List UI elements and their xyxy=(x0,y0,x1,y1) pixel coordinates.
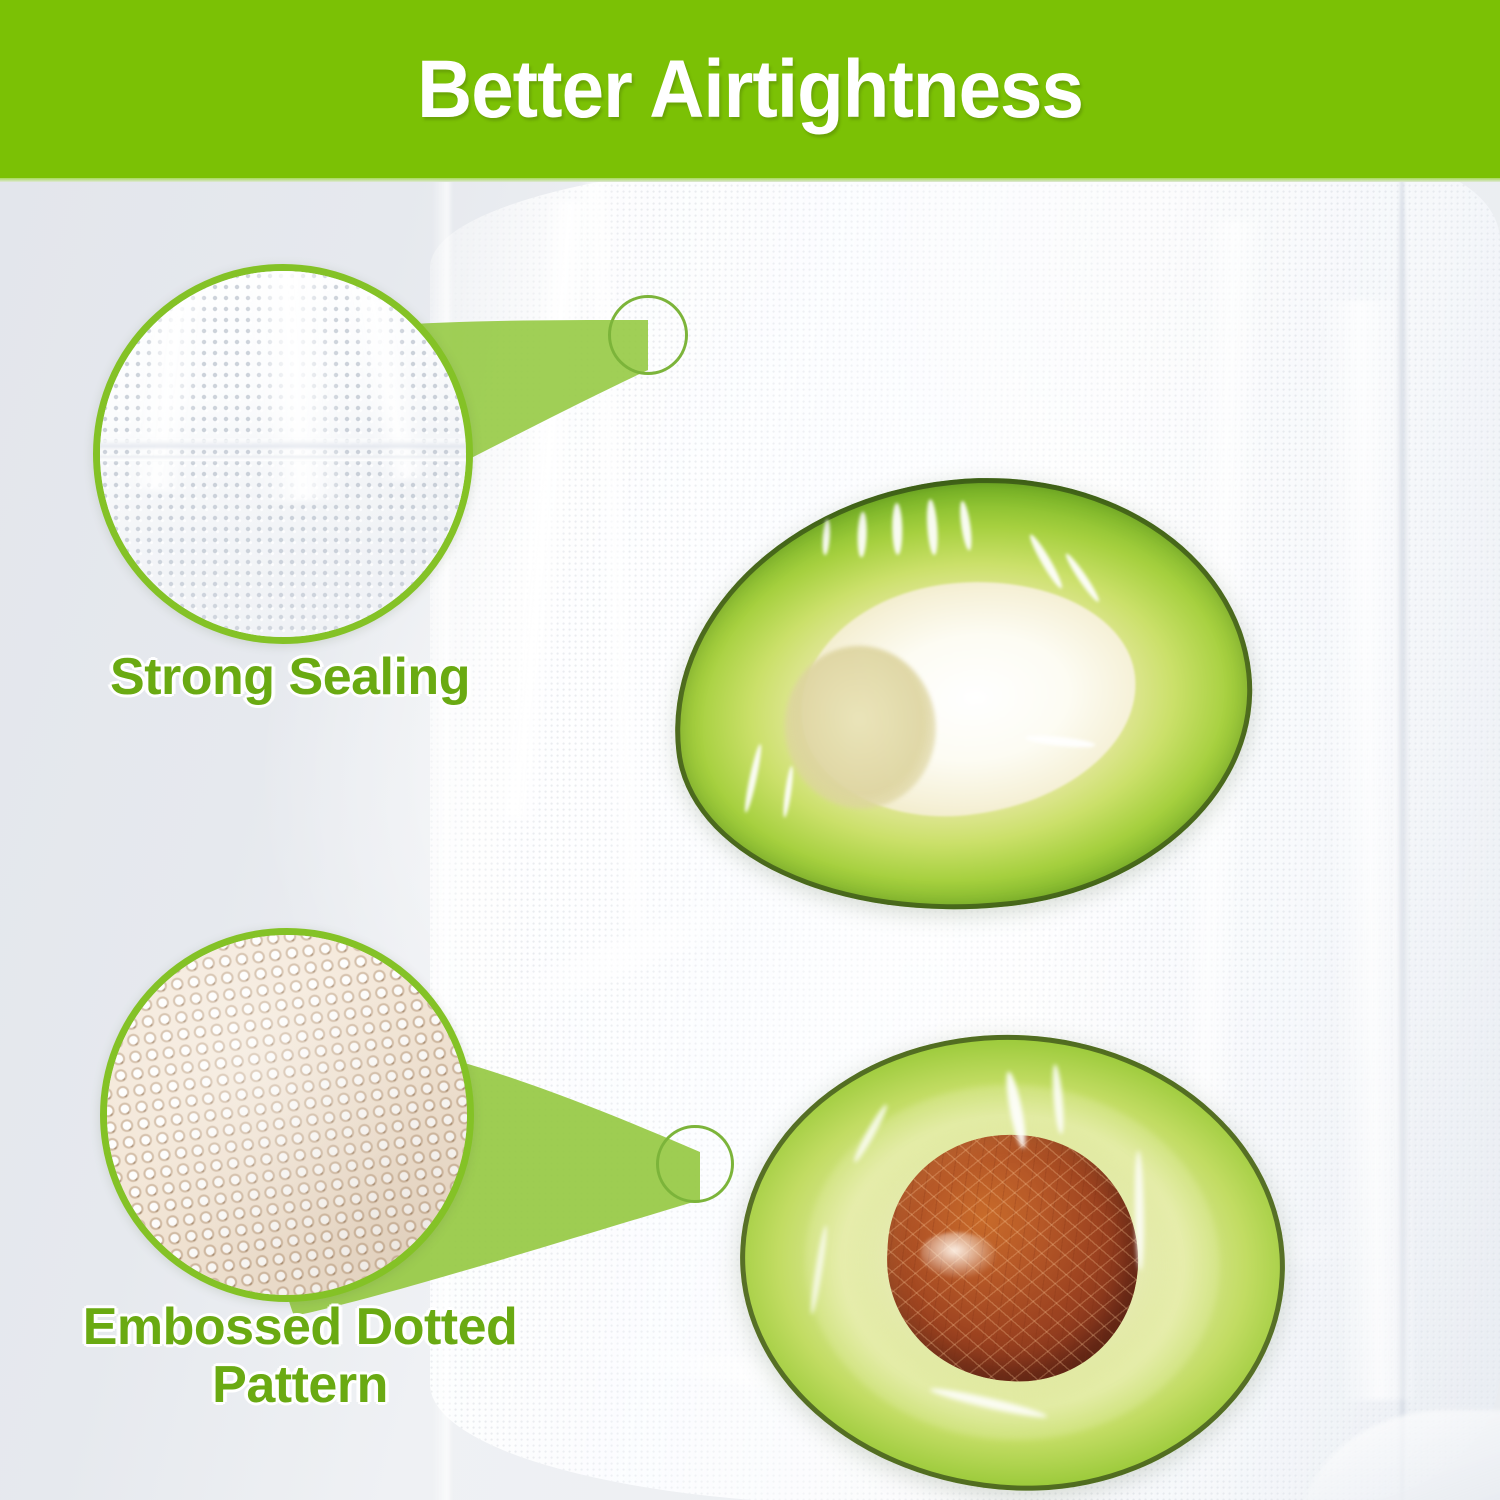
seal-weld-line xyxy=(93,456,473,461)
avocado-half-top xyxy=(651,451,1273,939)
seal-target-circle xyxy=(608,295,688,375)
magnifier-strong-sealing xyxy=(93,264,473,644)
caption-strong-sealing: Strong Sealing xyxy=(40,648,540,706)
pattern-target-circle xyxy=(656,1125,734,1203)
seal-band xyxy=(93,461,473,644)
avocado-half-bottom xyxy=(728,1021,1296,1500)
caption-line-2: Pattern xyxy=(20,1356,580,1414)
seal-weld-line xyxy=(93,439,473,448)
dotted-surface-shading xyxy=(100,928,474,1302)
magnifier-content-dots xyxy=(107,935,467,1295)
caption-line-1: Embossed Dotted xyxy=(20,1298,580,1356)
header-banner: Better Airtightness xyxy=(0,0,1500,180)
avocado-skin-edge xyxy=(651,451,1273,939)
banner-underline xyxy=(0,178,1500,182)
magnifier-content-seal xyxy=(100,271,466,637)
magnifier-embossed-pattern xyxy=(100,928,474,1302)
caption-embossed-dotted-pattern: Embossed Dotted Pattern xyxy=(20,1298,580,1414)
banner-title: Better Airtightness xyxy=(417,43,1083,137)
product-feature-image: Strong Sealing Embossed Dotted Pattern B… xyxy=(0,0,1500,1500)
